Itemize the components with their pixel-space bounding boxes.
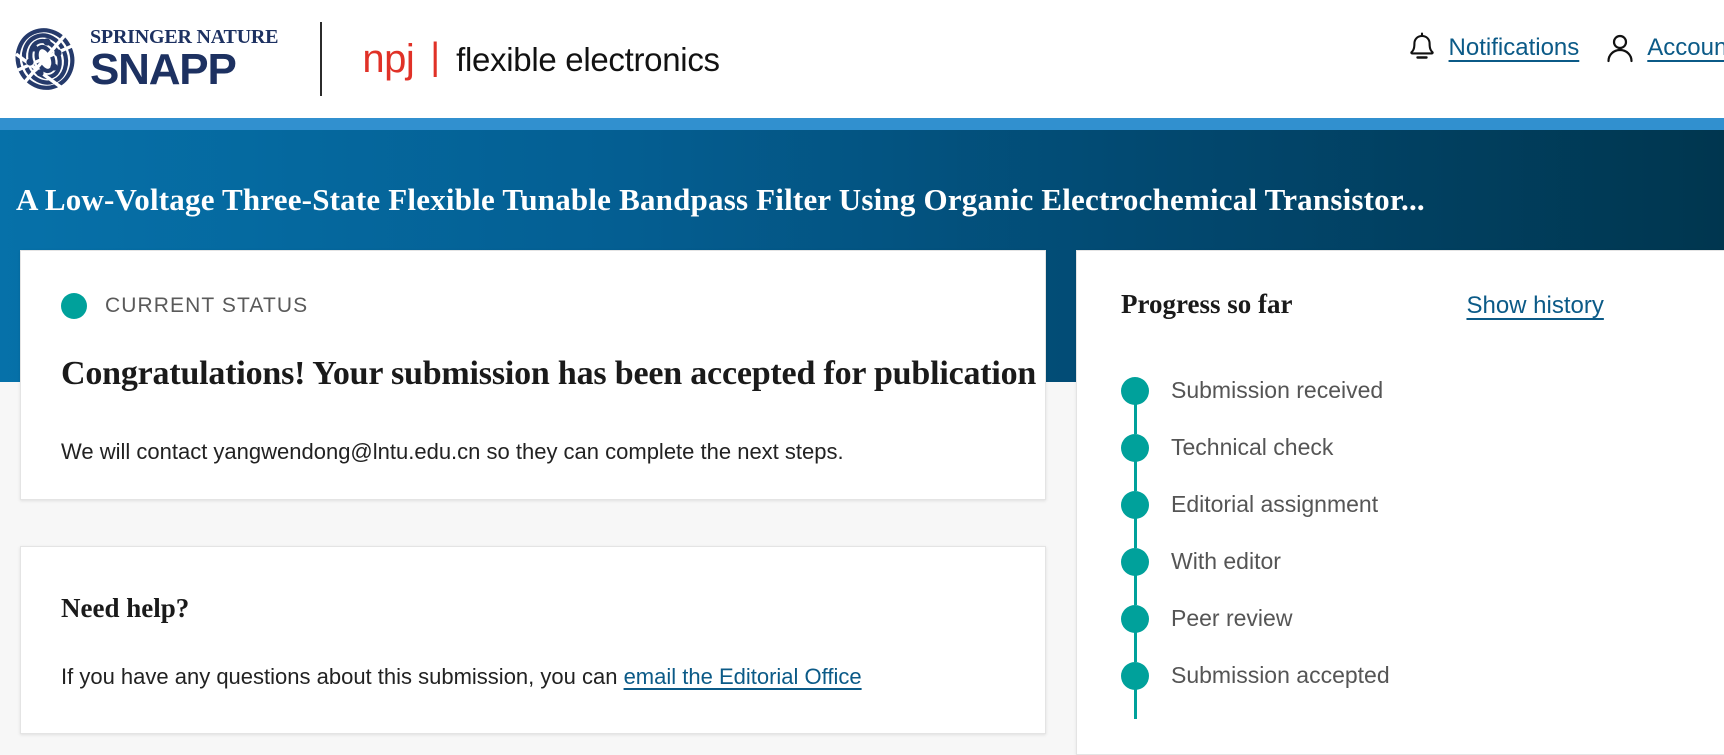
progress-timeline: Submission received Technical check Edit… bbox=[1121, 362, 1684, 704]
progress-title: Progress so far bbox=[1121, 289, 1292, 320]
progress-panel: Progress so far Show history Submission … bbox=[1076, 250, 1724, 755]
timeline-connector bbox=[1134, 518, 1137, 548]
timeline-connector bbox=[1134, 575, 1137, 605]
current-status-label: CURRENT STATUS bbox=[105, 294, 308, 318]
timeline-label: With editor bbox=[1171, 548, 1281, 575]
email-editorial-office-link[interactable]: email the Editorial Office bbox=[624, 664, 862, 689]
timeline-label: Submission accepted bbox=[1171, 662, 1390, 689]
list-item: Technical check bbox=[1121, 419, 1684, 476]
timeline-connector bbox=[1134, 689, 1137, 719]
need-help-body: If you have any questions about this sub… bbox=[61, 662, 1005, 693]
timeline-connector bbox=[1134, 461, 1137, 491]
timeline-label: Technical check bbox=[1171, 434, 1333, 461]
accent-strip bbox=[0, 118, 1724, 130]
npj-divider: | bbox=[430, 38, 440, 76]
springer-nature-top-text: Springer Nature bbox=[90, 27, 278, 47]
need-help-title: Need help? bbox=[61, 593, 1005, 624]
need-help-card: Need help? If you have any questions abo… bbox=[20, 546, 1046, 734]
timeline-connector bbox=[1134, 632, 1137, 662]
timeline-label: Editorial assignment bbox=[1171, 491, 1378, 518]
notifications-group[interactable]: Notifications bbox=[1407, 32, 1580, 64]
header-actions: Notifications Account bbox=[1407, 32, 1724, 64]
springer-nature-fingerprint-logo bbox=[14, 26, 76, 92]
top-header: Springer Nature SNAPP npj | flexible ele… bbox=[0, 0, 1724, 118]
list-item: Submission received bbox=[1121, 362, 1684, 419]
list-item: Submission accepted bbox=[1121, 647, 1684, 704]
person-icon[interactable] bbox=[1605, 32, 1635, 64]
notifications-link[interactable]: Notifications bbox=[1449, 34, 1580, 62]
timeline-dot-icon bbox=[1121, 662, 1149, 690]
timeline-label: Submission received bbox=[1171, 377, 1383, 404]
list-item: Editorial assignment bbox=[1121, 476, 1684, 533]
list-item: With editor bbox=[1121, 533, 1684, 590]
header-divider bbox=[320, 22, 322, 96]
content-area: CURRENT STATUS Congratulations! Your sub… bbox=[0, 250, 1724, 755]
status-row: CURRENT STATUS bbox=[61, 293, 1005, 319]
brand-block[interactable]: Springer Nature SNAPP bbox=[14, 26, 278, 92]
timeline-dot-icon bbox=[1121, 548, 1149, 576]
status-dot-icon bbox=[61, 293, 87, 319]
springer-nature-wordmark: Springer Nature SNAPP bbox=[90, 27, 278, 91]
timeline-dot-icon bbox=[1121, 377, 1149, 405]
timeline-label: Peer review bbox=[1171, 605, 1292, 632]
timeline-dot-icon bbox=[1121, 491, 1149, 519]
timeline-connector bbox=[1134, 404, 1137, 434]
bell-icon[interactable] bbox=[1407, 32, 1437, 64]
account-link[interactable]: Account bbox=[1647, 34, 1724, 62]
list-item: Peer review bbox=[1121, 590, 1684, 647]
current-status-card: CURRENT STATUS Congratulations! Your sub… bbox=[20, 250, 1046, 500]
journal-name: flexible electronics bbox=[456, 43, 720, 76]
status-headline: Congratulations! Your submission has bee… bbox=[61, 355, 1005, 393]
progress-header: Progress so far Show history bbox=[1121, 289, 1684, 320]
need-help-body-text: If you have any questions about this sub… bbox=[61, 664, 624, 689]
main-column: CURRENT STATUS Congratulations! Your sub… bbox=[20, 250, 1046, 734]
timeline-dot-icon bbox=[1121, 434, 1149, 462]
npj-mark: npj bbox=[362, 39, 414, 79]
page-title: A Low-Voltage Three-State Flexible Tunab… bbox=[16, 182, 1425, 218]
show-history-link[interactable]: Show history bbox=[1466, 292, 1603, 320]
timeline-dot-icon bbox=[1121, 605, 1149, 633]
snapp-wordmark-text: SNAPP bbox=[90, 49, 278, 91]
journal-block: npj | flexible electronics bbox=[362, 39, 719, 79]
account-group[interactable]: Account bbox=[1605, 32, 1724, 64]
status-body-text: We will contact yangwendong@lntu.edu.cn … bbox=[61, 437, 1005, 468]
